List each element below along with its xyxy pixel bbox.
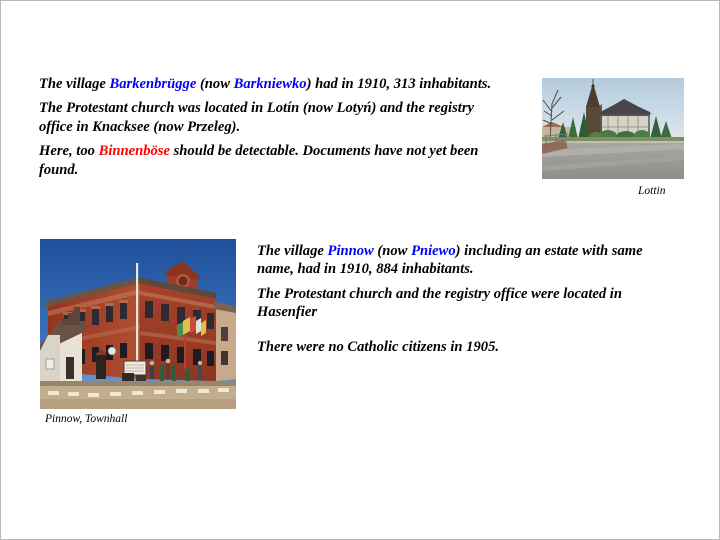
place-name-highlight: Binnenböse (99, 143, 170, 159)
place-name-polish: Barkniewko (234, 76, 307, 92)
text-run: (now (196, 76, 233, 92)
text-run: The village (257, 243, 328, 259)
paragraph-barkenbruegge-population: The village Barkenbrügge (now Barkniewko… (39, 75, 507, 93)
place-name-polish: Pniewo (411, 243, 456, 259)
caption-pinnow: Pinnow, Townhall (45, 413, 127, 425)
paragraph-spacer (257, 328, 677, 338)
paragraph-pinnow-church: The Protestant church and the registry o… (257, 285, 677, 322)
text-run: ) had in 1910, 313 inhabitants. (307, 76, 492, 92)
paragraph-pinnow-catholic: There were no Catholic citizens in 1905. (257, 338, 677, 356)
slide-canvas: The village Barkenbrügge (now Barkniewko… (0, 0, 720, 540)
text-run: Here, too (39, 143, 99, 159)
lottin-church-illustration (542, 78, 684, 179)
photo-pinnow (40, 239, 236, 409)
paragraph-barkenbruegge-church: The Protestant church was located in Lot… (39, 99, 507, 136)
paragraph-pinnow-population: The village Pinnow (now Pniewo) includin… (257, 242, 677, 279)
photo-lottin (542, 78, 684, 179)
place-name-german: Pinnow (328, 243, 374, 259)
text-block-pinnow: The village Pinnow (now Pniewo) includin… (257, 242, 677, 356)
caption-lottin: Lottin (638, 185, 665, 197)
text-run: (now (374, 243, 411, 259)
place-name-german: Barkenbrügge (110, 76, 197, 92)
paragraph-barkenbruegge-binnenboese: Here, too Binnenböse should be detectabl… (39, 142, 507, 179)
text-run: The village (39, 76, 110, 92)
pinnow-townhall-illustration (40, 239, 236, 409)
text-block-barkenbruegge: The village Barkenbrügge (now Barkniewko… (39, 75, 507, 179)
